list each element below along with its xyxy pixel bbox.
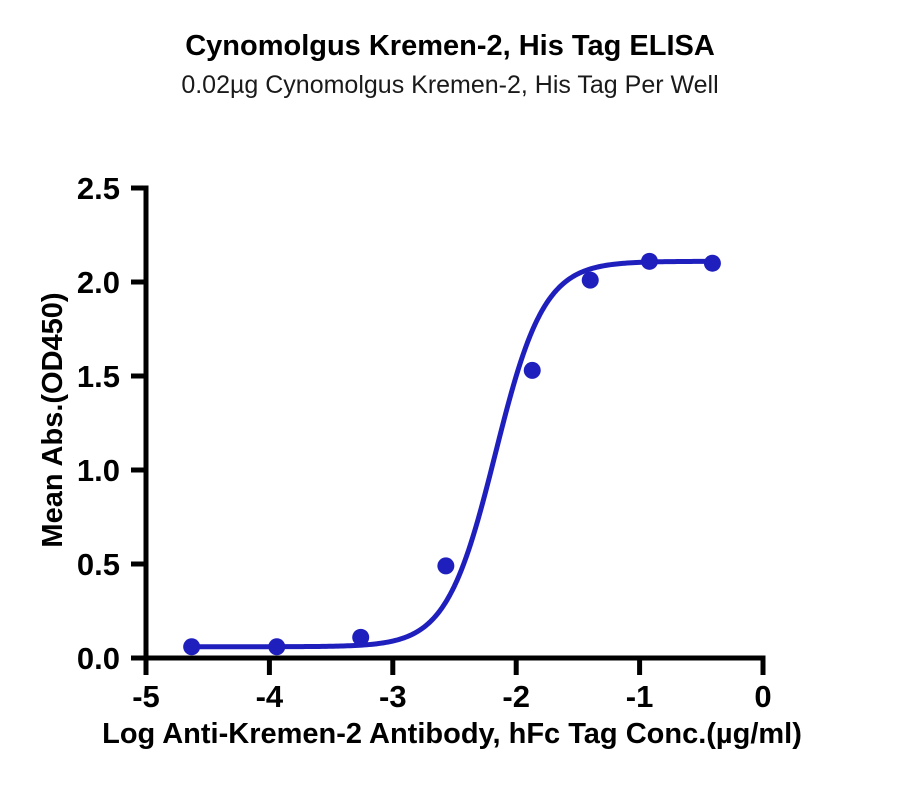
y-tick-label: 0.0 — [77, 641, 120, 676]
x-tick-label: -4 — [256, 679, 284, 714]
y-tick-label: 1.0 — [77, 453, 120, 488]
y-tick-label: 2.5 — [77, 171, 120, 206]
x-tick-label: -2 — [502, 679, 530, 714]
data-point-marker — [582, 272, 599, 289]
data-point-marker — [183, 638, 200, 655]
y-tick-label: 0.5 — [77, 547, 120, 582]
data-point-marker — [437, 557, 454, 574]
y-tick-label: 2.0 — [77, 265, 120, 300]
x-tick-label: -5 — [132, 679, 160, 714]
x-tick-label: 0 — [754, 679, 771, 714]
x-axis-ticks: -5-4-3-2-10 — [132, 658, 771, 714]
y-axis-ticks: 0.00.51.01.52.02.5 — [77, 171, 146, 676]
x-tick-label: -3 — [379, 679, 407, 714]
x-axis-title: Log Anti-Kremen-2 Antibody, hFc Tag Conc… — [102, 718, 802, 750]
x-tick-label: -1 — [626, 679, 654, 714]
data-point-marker — [524, 362, 541, 379]
y-axis-title: Mean Abs.(OD450) — [37, 292, 69, 547]
chart-plot-area: 0.00.51.01.52.02.5 -5-4-3-2-10 Log Anti-… — [0, 0, 900, 791]
data-point-marker — [352, 629, 369, 646]
data-point-marker — [268, 638, 285, 655]
elisa-chart-figure: Cynomolgus Kremen-2, His Tag ELISA 0.02µ… — [0, 0, 900, 791]
data-point-marker — [641, 253, 658, 270]
data-point-marker — [704, 255, 721, 272]
y-tick-label: 1.5 — [77, 359, 120, 394]
data-curve — [192, 261, 713, 646]
